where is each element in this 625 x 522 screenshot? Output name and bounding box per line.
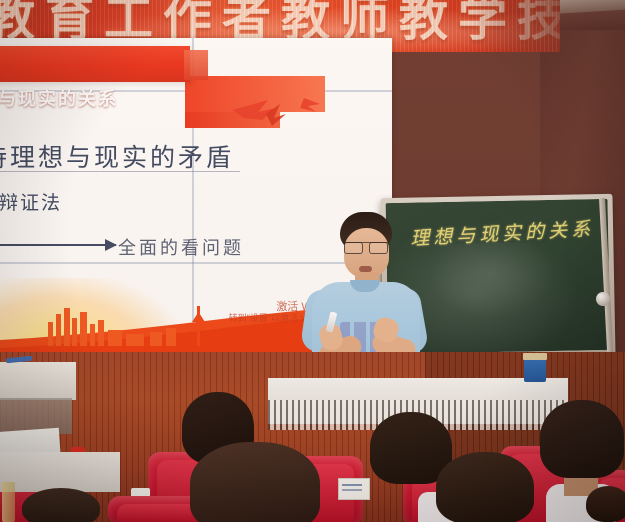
blackboard-chalk-text: 理想与现实的关系 — [410, 214, 601, 251]
chalk-box — [524, 358, 546, 382]
glasses-icon — [344, 242, 388, 252]
photo-scene: 教育工作者教师教学技能大赛 理想与现实的关系 待理想与现实的矛盾 物辩证法 全面… — [0, 0, 625, 522]
doves-icon — [228, 90, 338, 132]
slide-bullet-1: 待理想与现实的矛盾 — [0, 138, 234, 174]
slide-bullet-2: 物辩证法 — [0, 188, 62, 215]
side-podium — [0, 362, 76, 400]
slide-title-bar — [0, 46, 190, 82]
blackboard-adjust-knob — [596, 292, 610, 306]
audience-head — [586, 486, 625, 522]
audience-head — [22, 488, 100, 522]
chalk-smudge — [426, 242, 556, 320]
audience-head — [540, 400, 624, 478]
audience-head — [190, 442, 320, 522]
front-table-left — [0, 452, 120, 492]
slide-bullet-3: 全面的看问题 — [118, 234, 244, 260]
slide-title: 理想与现实的关系 — [0, 85, 198, 111]
name-card — [338, 478, 370, 500]
audience-head — [436, 452, 534, 522]
slide-arrow-icon — [0, 244, 116, 246]
beverage-bottle — [2, 482, 15, 522]
banner-shadow — [470, 0, 560, 52]
